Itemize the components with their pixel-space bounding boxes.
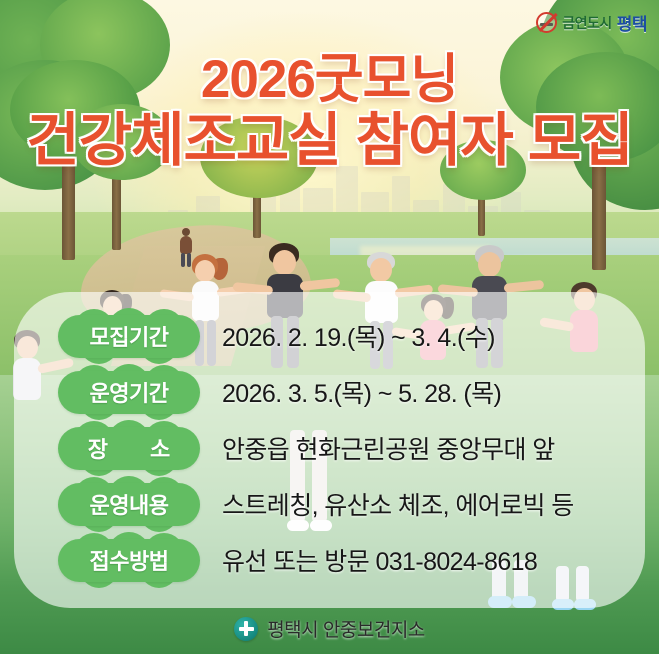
label-pill-recruitment-period: 모집기간 [58,315,200,358]
info-value-application-method: 유선 또는 방문 031-8024-8618 [222,542,537,578]
label-pill-operation-period: 운영기간 [58,371,200,414]
pill-label-text: 운영기간 [90,376,169,408]
poster-canvas: 금연도시 평택 2026굿모닝 건강체조교실 참여자 모집 모집기간 2026.… [0,0,659,654]
info-value-operation-period: 2026. 3. 5.(목) ~ 5. 28. (목) [222,374,501,410]
pill-label-text: 운영내용 [90,488,169,520]
pill-label-text: 모집기간 [90,320,169,352]
brand-city-name: 평택 [617,10,647,35]
medical-cross-circle-icon [234,617,258,641]
pill-label-text: 접수방법 [90,544,169,576]
brand-slogan: 금연도시 [562,13,612,33]
brand-logo: 금연도시 평택 [536,10,647,35]
info-row-application-method: 접수방법 유선 또는 방문 031-8024-8618 [14,532,645,588]
info-value-recruitment-period: 2026. 2. 19.(목) ~ 3. 4.(수) [222,318,495,354]
label-pill-location: 장 소 [58,427,200,470]
info-rows: 모집기간 2026. 2. 19.(목) ~ 3. 4.(수) 운영기간 202… [14,292,645,608]
no-smoking-icon [536,12,557,33]
info-row-recruitment-period: 모집기간 2026. 2. 19.(목) ~ 3. 4.(수) [14,308,645,364]
page-title: 2026굿모닝 건강체조교실 참여자 모집 [0,52,659,171]
info-value-location: 안중읍 현화근린공원 중앙무대 앞 [222,430,555,466]
footer: 평택시 안중보건지소 [0,615,659,642]
title-line-1: 2026굿모닝 [0,52,659,107]
label-pill-program-content: 운영내용 [58,483,200,526]
info-row-program-content: 운영내용 스트레칭, 유산소 체조, 에어로빅 등 [14,476,645,532]
info-value-program-content: 스트레칭, 유산소 체조, 에어로빅 등 [222,486,574,522]
footer-organization-name: 평택시 안중보건지소 [267,615,425,642]
pill-label-text: 장 소 [70,432,189,464]
info-row-location: 장 소 안중읍 현화근린공원 중앙무대 앞 [14,420,645,476]
info-row-operation-period: 운영기간 2026. 3. 5.(목) ~ 5. 28. (목) [14,364,645,420]
title-line-2: 건강체조교실 참여자 모집 [0,111,659,171]
label-pill-application-method: 접수방법 [58,539,200,582]
